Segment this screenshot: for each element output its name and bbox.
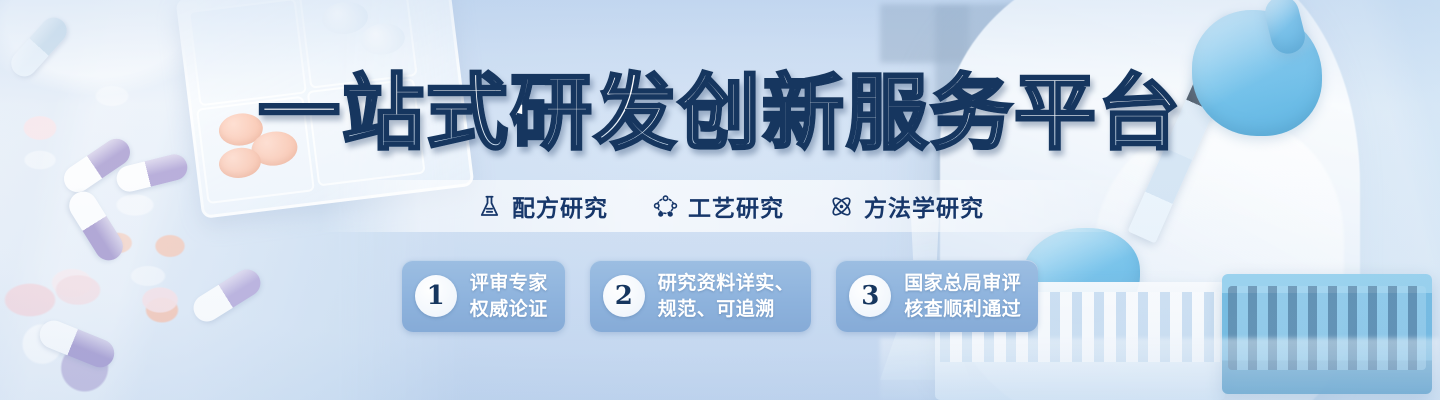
research-item-label: 工艺研究 [688,189,784,223]
card-line-2: 核查顺利通过 [904,297,1021,322]
card-line-1: 国家总局审评 [904,271,1021,296]
feature-card-3[interactable]: 3 国家总局审评 核查顺利通过 [836,260,1038,332]
research-item-label: 方法学研究 [864,189,984,223]
research-item-label: 配方研究 [512,189,608,223]
research-item-formulation[interactable]: 配方研究 [476,189,608,223]
card-line-1: 研究资料详实、 [658,271,795,296]
molecule-icon [652,193,679,220]
feature-card-1[interactable]: 1 评审专家 权威论证 [402,260,565,332]
card-line-2: 权威论证 [470,297,548,322]
promo-banner: 一站式研发创新服务平台 配方研究 [0,0,1440,400]
feature-card-list: 1 评审专家 权威论证 2 研究资料详实、 规范、可追溯 3 国家总局审评 核查… [0,260,1440,332]
card-line-1: 评审专家 [470,271,548,296]
card-number-badge: 3 [849,275,891,317]
card-text: 评审专家 权威论证 [470,271,548,322]
page-title: 一站式研发创新服务平台 [0,66,1440,162]
banner-content: 一站式研发创新服务平台 配方研究 [0,0,1440,400]
atom-icon [828,193,855,220]
card-number-badge: 2 [603,275,645,317]
research-bar: 配方研究 [320,180,1140,232]
card-line-2: 规范、可追溯 [658,297,795,322]
feature-card-2[interactable]: 2 研究资料详实、 规范、可追溯 [590,260,812,332]
card-text: 国家总局审评 核查顺利通过 [904,271,1021,322]
research-item-methodology[interactable]: 方法学研究 [828,189,984,223]
research-item-process[interactable]: 工艺研究 [652,189,784,223]
card-number-badge: 1 [415,275,457,317]
flask-icon [476,193,503,220]
card-text: 研究资料详实、 规范、可追溯 [658,271,795,322]
